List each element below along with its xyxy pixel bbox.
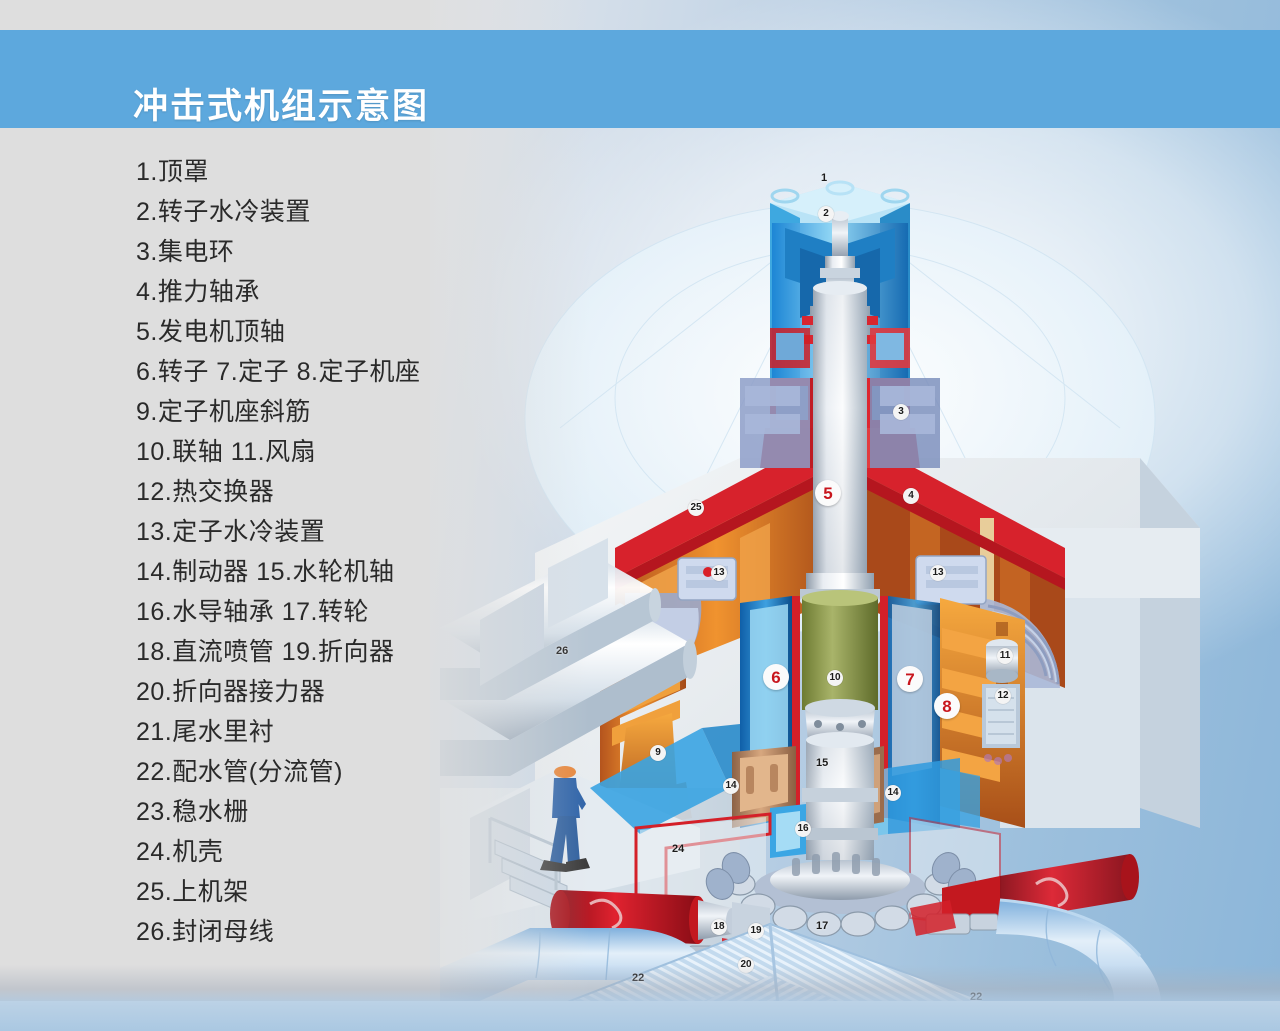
legend-item: 14.制动器 15.水轮机轴 [136,552,516,592]
legend-item: 24.机壳 [136,832,516,872]
callout-24: 24 [672,844,684,855]
legend-item: 12.热交换器 [136,472,516,512]
page-title: 冲击式机组示意图 [133,89,429,124]
callout-11: 11 [997,648,1013,664]
callout-13: 13 [930,565,946,581]
callout-17: 17 [816,921,828,932]
legend-item: 2.转子水冷装置 [136,192,516,232]
callout-16: 16 [795,821,811,837]
callout-25: 25 [688,500,704,516]
callout-18: 18 [711,919,727,935]
bottom-color-strip [0,1001,1280,1031]
legend-item: 3.集电环 [136,232,516,272]
callout-13: 13 [711,565,727,581]
background-bottom-blend [0,965,1280,1005]
legend-item: 21.尾水里衬 [136,712,516,752]
callout-5: 5 [815,480,841,506]
legend-item: 26.封闭母线 [136,912,516,952]
callout-3: 3 [893,404,909,420]
slide-root: 1234525131326610781112915141416241819172… [0,0,1280,1031]
callout-1: 1 [821,173,827,184]
callout-12: 12 [995,688,1011,704]
callout-8: 8 [934,693,960,719]
callout-14: 14 [723,778,739,794]
legend-item: 22.配水管(分流管) [136,752,516,792]
header-banner: 冲击式机组示意图 [0,30,1280,128]
legend-item: 10.联轴 11.风扇 [136,432,516,472]
callout-10: 10 [827,670,843,686]
callout-19: 19 [748,923,764,939]
legend-item: 20.折向器接力器 [136,672,516,712]
legend-item: 23.稳水栅 [136,792,516,832]
legend-item: 1.顶罩 [136,152,516,192]
legend-list: 1.顶罩2.转子水冷装置3.集电环4.推力轴承5.发电机顶轴6.转子 7.定子 … [136,152,516,952]
legend-item: 18.直流喷管 19.折向器 [136,632,516,672]
legend-item: 5.发电机顶轴 [136,312,516,352]
legend-item: 6.转子 7.定子 8.定子机座 [136,352,516,392]
legend-item: 25.上机架 [136,872,516,912]
legend-item: 13.定子水冷装置 [136,512,516,552]
callout-9: 9 [650,745,666,761]
legend-item: 9.定子机座斜筋 [136,392,516,432]
legend-item: 4.推力轴承 [136,272,516,312]
callout-2: 2 [818,206,834,222]
callout-4: 4 [903,488,919,504]
legend-item: 16.水导轴承 17.转轮 [136,592,516,632]
callout-14: 14 [885,785,901,801]
callout-15: 15 [816,758,828,769]
callout-6: 6 [763,664,789,690]
callout-7: 7 [897,666,923,692]
